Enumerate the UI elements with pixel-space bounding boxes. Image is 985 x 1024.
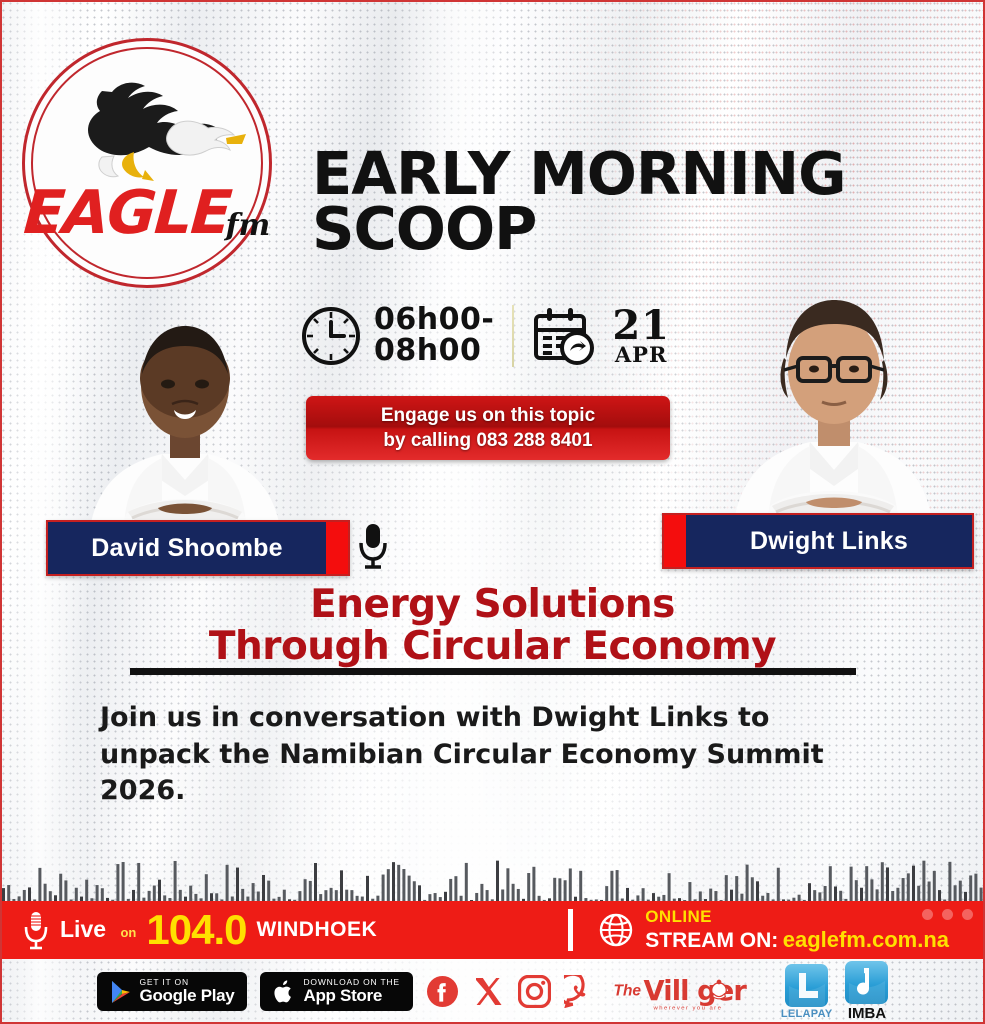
online-label: ONLINE [645, 907, 949, 926]
globe-icon [599, 913, 633, 947]
topic-heading: Energy Solutions Through Circular Econom… [0, 584, 985, 667]
apple-icon [273, 980, 295, 1004]
lelapay-caption: LELAPAY [781, 1008, 833, 1020]
facebook-icon[interactable] [426, 975, 459, 1008]
broadcast-date: 21 APR [612, 308, 670, 365]
imba-caption: IMBA [848, 1005, 886, 1022]
time-line-1: 06h00- [374, 305, 494, 336]
calendar-icon [532, 306, 596, 366]
live-label: Live [60, 916, 106, 942]
time-line-2: 08h00 [374, 336, 494, 367]
x-twitter-icon[interactable] [472, 975, 505, 1008]
stream-url[interactable]: eaglefm.com.na [783, 927, 949, 952]
live-frequency-group: Live on 104.0 WINDHOEK [0, 909, 377, 951]
host-nameplate-left: David Shoombe [46, 520, 350, 576]
imba-music-note-icon [845, 961, 888, 1004]
topic-underline [130, 668, 856, 675]
topic-line-2: Through Circular Economy [0, 626, 985, 668]
microphone-icon [22, 910, 50, 950]
host-name-right: Dwight Links [750, 527, 908, 556]
host-photo-left [62, 282, 308, 544]
logo-text-eagle: EAGLE [21, 178, 232, 248]
engage-line-2: by calling 083 288 8401 [383, 428, 592, 453]
villager-tagline-text: wherever you are [652, 1005, 722, 1011]
host-nameplate-right: Dwight Links [662, 513, 974, 569]
google-play-icon [110, 980, 132, 1004]
blurb-line-1: Join us in conversation with Dwight Link… [100, 700, 872, 737]
logo-text-fm: fm [226, 208, 271, 243]
clock-icon [300, 305, 362, 367]
imba-partner[interactable]: IMBA [845, 961, 888, 1022]
schedule-info: 06h00- 08h00 21 APR [300, 305, 670, 367]
nameplate-accent-left [326, 522, 348, 574]
villager-logo: The Vill ger wherever you are [610, 972, 768, 1012]
topic-line-1: Energy Solutions [0, 584, 985, 626]
title-line-1: EARLY MORNING [312, 146, 962, 201]
city-label: WINDHOEK [256, 918, 377, 942]
audio-waveform [0, 858, 985, 906]
footer-bar: Live on 104.0 WINDHOEK ONLINE STREAM ON:… [0, 901, 985, 959]
title-line-2: SCOOP [312, 201, 962, 256]
host-photo-right [700, 266, 962, 538]
on-label: on [120, 925, 136, 940]
engage-call-banner[interactable]: Engage us on this topic by calling 083 2… [306, 396, 670, 460]
page-title: EARLY MORNING SCOOP [312, 146, 962, 257]
eagle-fm-logo: EAGLEfm [22, 38, 272, 288]
promo-poster: EAGLEfm [0, 0, 985, 1024]
host-name-left: David Shoombe [91, 534, 283, 563]
date-day: 21 [612, 308, 670, 344]
instagram-icon[interactable] [518, 975, 551, 1008]
stream-on-label: STREAM ON: [645, 929, 778, 952]
nameplate-accent-right [664, 515, 686, 567]
footer-divider [568, 909, 573, 951]
broadcast-time: 06h00- 08h00 [374, 305, 494, 367]
villager-name-text: Vill ger [643, 976, 747, 1007]
logo-wordmark: EAGLEfm [22, 178, 272, 248]
whatsapp-icon[interactable] [564, 975, 597, 1008]
blurb-line-3: 2026. [100, 773, 872, 810]
lelapay-icon [785, 964, 828, 1007]
badges-row: GET IT ON Google Play Download on the Ap… [0, 959, 985, 1024]
google-play-label: Google Play [140, 987, 235, 1005]
description-text: Join us in conversation with Dwight Link… [100, 700, 872, 810]
frequency-value: 104.0 [146, 909, 246, 951]
lelapay-partner[interactable]: LELAPAY [781, 964, 833, 1020]
blurb-line-2: unpack the Namibian Circular Economy Sum… [100, 737, 872, 774]
date-month: APR [612, 344, 670, 365]
villager-the-text: The [613, 982, 641, 999]
microphone-icon [355, 522, 391, 570]
footer-dots-decoration [922, 909, 973, 920]
eagle-bird-icon [50, 78, 246, 188]
app-store-label: App Store [303, 987, 399, 1005]
google-play-badge[interactable]: GET IT ON Google Play [97, 972, 248, 1011]
engage-line-1: Engage us on this topic [381, 403, 595, 428]
meta-divider [512, 305, 514, 367]
app-store-badge[interactable]: Download on the App Store [260, 972, 412, 1011]
